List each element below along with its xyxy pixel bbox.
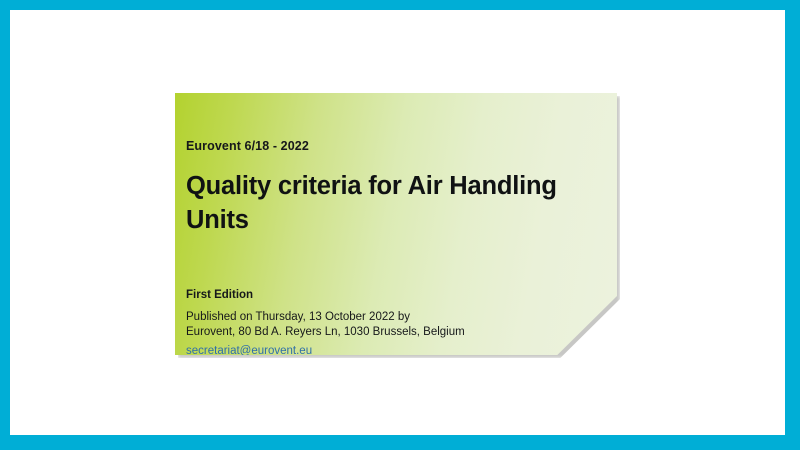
edition-label: First Edition: [186, 289, 617, 301]
page-title: Quality criteria for Air Handling Units: [186, 170, 576, 238]
slide-canvas: Eurovent 6/18 - 2022 Quality criteria fo…: [10, 10, 785, 435]
imprint-block: Published on Thursday, 13 October 2022 b…: [186, 310, 617, 341]
cover-card: Eurovent 6/18 - 2022 Quality criteria fo…: [175, 93, 617, 355]
slide-frame: Eurovent 6/18 - 2022 Quality criteria fo…: [0, 0, 800, 450]
address-line: Eurovent, 80 Bd A. Reyers Ln, 1030 Bruss…: [186, 325, 617, 341]
cover-card-surface: Eurovent 6/18 - 2022 Quality criteria fo…: [175, 93, 617, 355]
published-line: Published on Thursday, 13 October 2022 b…: [186, 310, 617, 326]
document-reference: Eurovent 6/18 - 2022: [186, 139, 617, 153]
